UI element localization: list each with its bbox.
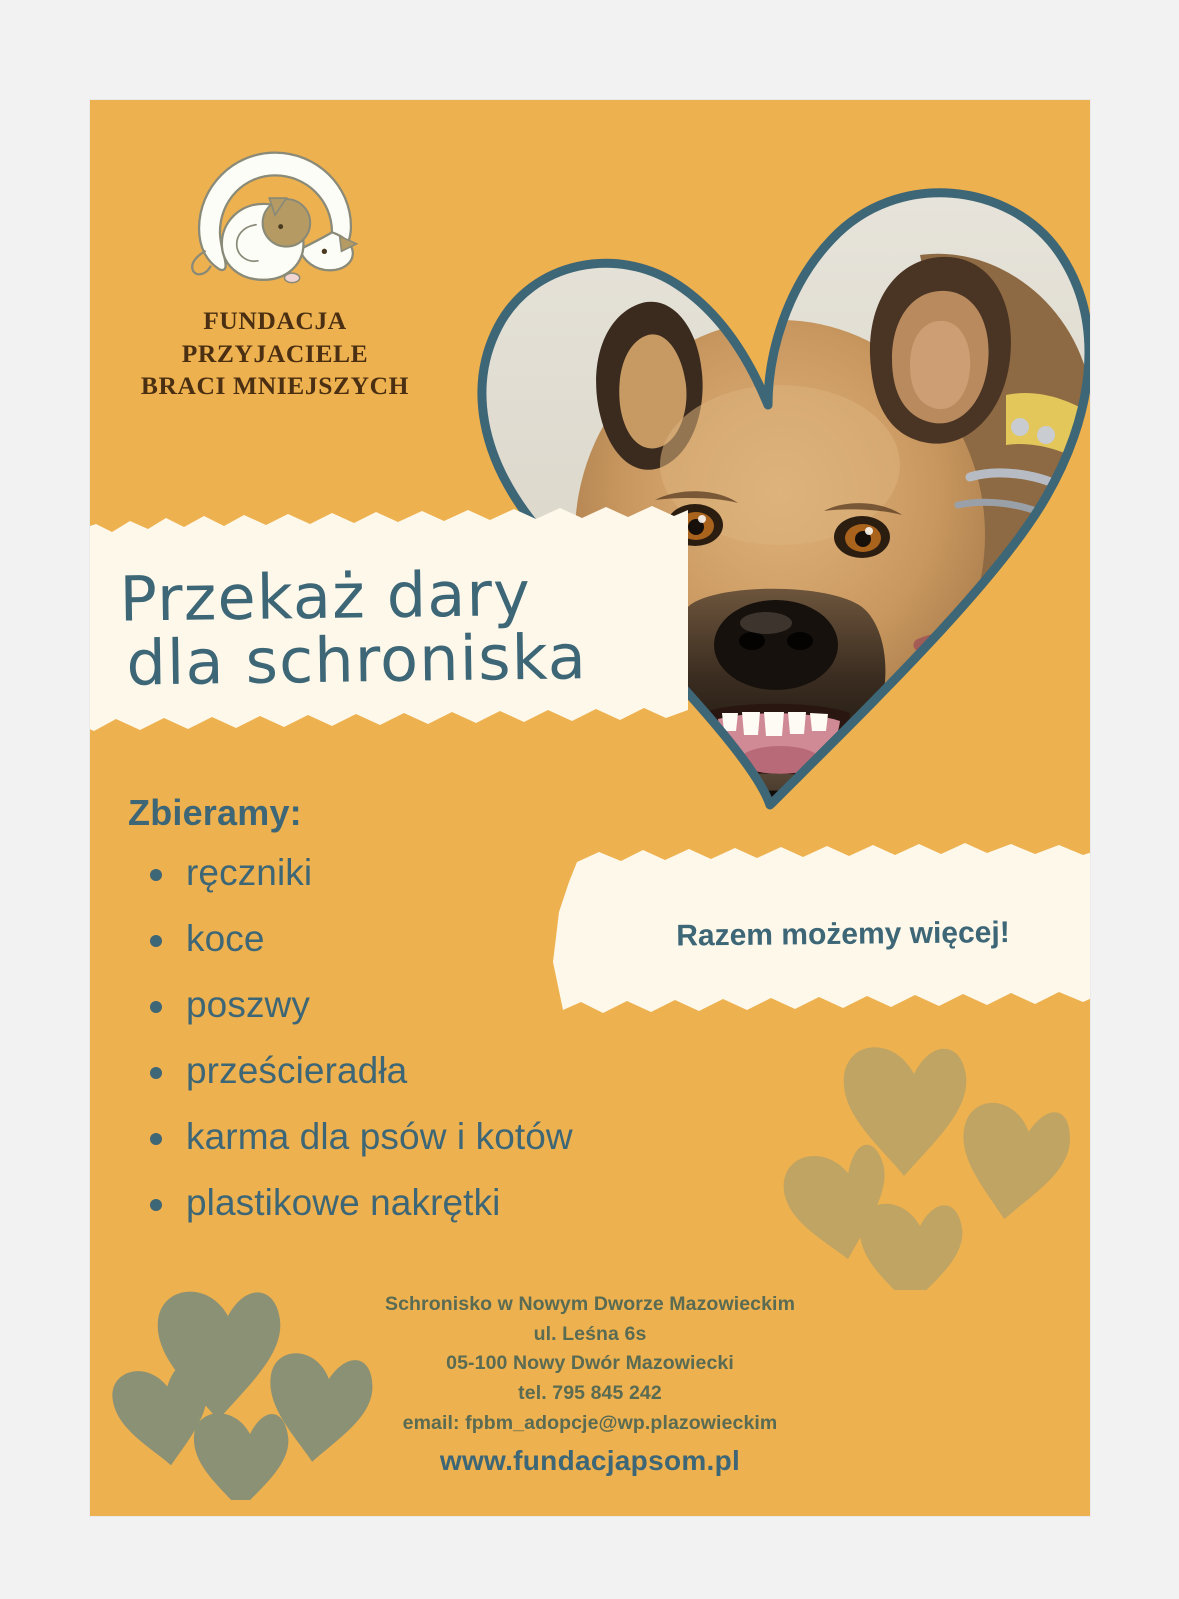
list-item-label: ręczniki: [186, 852, 312, 893]
list-item-label: poszwy: [186, 984, 310, 1025]
list-item: prześcieradła: [128, 1052, 768, 1089]
contact-block: Schronisko w Nowym Dworze Mazowieckim ul…: [90, 1290, 1090, 1477]
decorative-hearts-right: [770, 1040, 1090, 1290]
headline-line-2: dla schroniska: [120, 624, 689, 696]
collection-list: ręczniki koce poszwy prześcieradła karma…: [128, 854, 768, 1221]
slogan-text: Razem możemy więcej!: [545, 915, 1090, 955]
bullet-icon: [150, 935, 162, 947]
list-item-label: prześcieradła: [186, 1050, 407, 1091]
bullet-icon: [150, 1133, 162, 1145]
logo-text: FUNDACJA PRZYJACIELE BRACI MNIEJSZYCH: [125, 305, 425, 403]
contact-phone: tel. 795 845 242: [90, 1379, 1090, 1409]
list-item-label: plastikowe nakrętki: [186, 1182, 501, 1223]
list-item-label: koce: [186, 918, 265, 959]
poster: FUNDACJA PRZYJACIELE BRACI MNIEJSZYCH: [90, 100, 1090, 1516]
list-item: karma dla psów i kotów: [128, 1118, 768, 1155]
list-item-label: karma dla psów i kotów: [186, 1116, 573, 1157]
collection-title: Zbieramy:: [128, 792, 768, 834]
cat-and-dog-curled-logo-icon: [180, 145, 370, 295]
contact-email: email: fpbm_adopcje@wp.plazowieckim: [90, 1409, 1090, 1439]
list-item: plastikowe nakrętki: [128, 1184, 768, 1221]
logo-line-2: PRZYJACIELE: [125, 338, 425, 371]
contact-website[interactable]: www.fundacjapsom.pl: [90, 1445, 1090, 1477]
hearts-cluster-right-icon: [770, 1040, 1090, 1290]
collection-section: Zbieramy: ręczniki koce poszwy prześcier…: [128, 792, 768, 1250]
logo-line-3: BRACI MNIEJSZYCH: [125, 370, 425, 403]
contact-shelter: Schronisko w Nowym Dworze Mazowieckim: [90, 1290, 1090, 1320]
headline-banner: Przekaż dary dla schroniska: [90, 504, 688, 752]
contact-street: ul. Leśna 6s: [90, 1320, 1090, 1350]
list-item: poszwy: [128, 986, 768, 1023]
logo-line-1: FUNDACJA: [125, 305, 425, 338]
page-canvas: FUNDACJA PRZYJACIELE BRACI MNIEJSZYCH: [0, 0, 1179, 1599]
headline: Przekaż dary dla schroniska: [90, 559, 689, 696]
bullet-icon: [150, 869, 162, 881]
bullet-icon: [150, 1067, 162, 1079]
bullet-icon: [150, 1001, 162, 1013]
list-item: ręczniki: [128, 854, 768, 891]
foundation-logo: FUNDACJA PRZYJACIELE BRACI MNIEJSZYCH: [125, 145, 425, 403]
bullet-icon: [150, 1199, 162, 1211]
contact-postal-city: 05-100 Nowy Dwór Mazowiecki: [90, 1349, 1090, 1379]
